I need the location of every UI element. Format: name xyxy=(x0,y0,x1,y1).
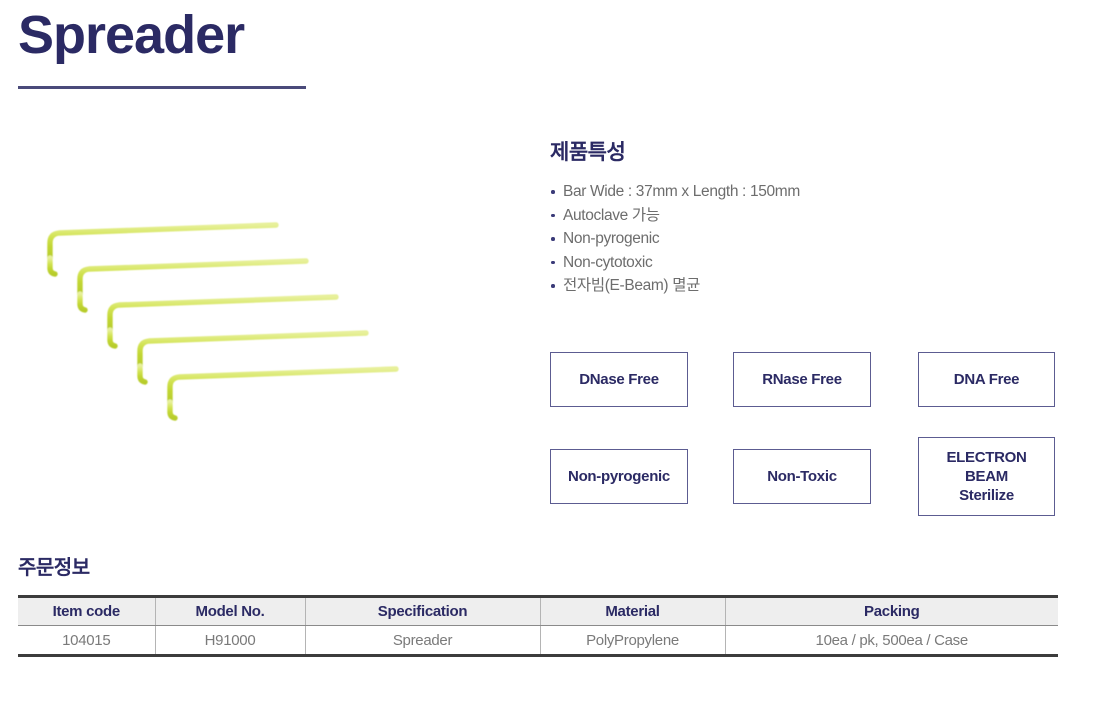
features-heading: 제품특성 xyxy=(550,136,1070,166)
column-header-material: Material xyxy=(540,597,725,626)
badge-row-1: DNase Free RNase Free DNA Free xyxy=(550,352,1070,407)
badge-line-sterilize: Sterilize xyxy=(946,486,1026,505)
feature-item: 전자빔(E-Beam) 멸균 xyxy=(550,274,1070,298)
feature-item: Autoclave 가능 xyxy=(550,204,1070,228)
ordering-info-table: Item code Model No. Specification Materi… xyxy=(18,595,1058,657)
cell-specification: Spreader xyxy=(305,626,540,656)
spreader-stack xyxy=(50,225,396,418)
feature-item: Non-cytotoxic xyxy=(550,251,1070,275)
cell-material: PolyPropylene xyxy=(540,626,725,656)
product-features-section: 제품특성 Bar Wide : 37mm x Length : 150mm Au… xyxy=(550,136,1070,298)
cell-packing: 10ea / pk, 500ea / Case xyxy=(725,626,1058,656)
feature-item: Bar Wide : 37mm x Length : 150mm xyxy=(550,180,1070,204)
badge-row-2: Non-pyrogenic Non-Toxic ELECTRON BEAM St… xyxy=(550,449,1070,516)
badge-electron-beam-sterilize: ELECTRON BEAM Sterilize xyxy=(918,437,1055,516)
badge-non-toxic: Non-Toxic xyxy=(733,449,871,504)
features-list: Bar Wide : 37mm x Length : 150mm Autocla… xyxy=(550,180,1070,298)
badge-rnase-free: RNase Free xyxy=(733,352,871,407)
column-header-item-code: Item code xyxy=(18,597,155,626)
table-row: 104015 H91000 Spreader PolyPropylene 10e… xyxy=(18,626,1058,656)
badge-line-beam: BEAM xyxy=(946,467,1026,486)
table-header-row: Item code Model No. Specification Materi… xyxy=(18,597,1058,626)
badge-dnase-free: DNase Free xyxy=(550,352,688,407)
column-header-packing: Packing xyxy=(725,597,1058,626)
badge-dna-free: DNA Free xyxy=(918,352,1055,407)
ordering-info-heading: 주문정보 xyxy=(18,551,90,580)
column-header-model-no: Model No. xyxy=(155,597,305,626)
cell-model-no: H91000 xyxy=(155,626,305,656)
badge-line-electron: ELECTRON xyxy=(946,448,1026,467)
page-title: Spreader xyxy=(18,6,244,65)
cell-item-code: 104015 xyxy=(18,626,155,656)
feature-item: Non-pyrogenic xyxy=(550,227,1070,251)
title-underline-rule xyxy=(18,86,306,89)
spreader-product-photo xyxy=(30,170,530,460)
column-header-specification: Specification xyxy=(305,597,540,626)
certification-badges-section: DNase Free RNase Free DNA Free Non-pyrog… xyxy=(550,352,1070,516)
badge-non-pyrogenic: Non-pyrogenic xyxy=(550,449,688,504)
spreader-item xyxy=(170,369,396,418)
